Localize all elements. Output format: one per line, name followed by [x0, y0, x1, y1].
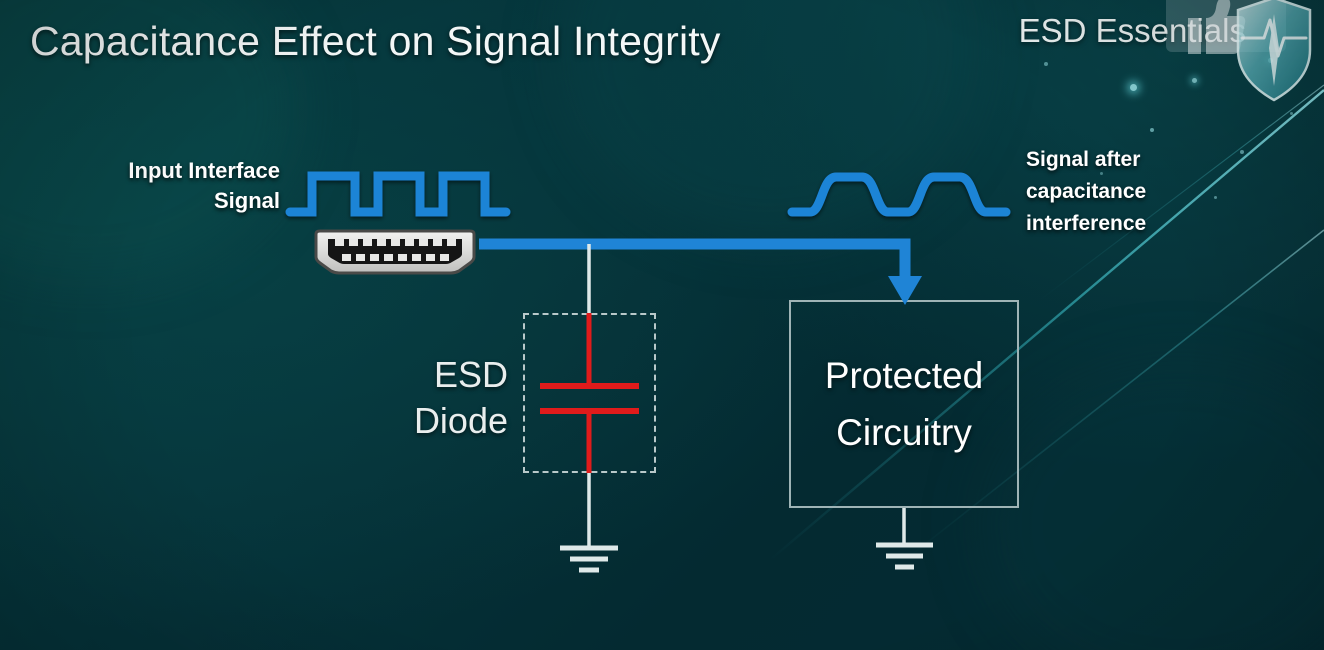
hdmi-connector-icon: [309, 229, 481, 275]
output-rounded-waveform: [792, 177, 1006, 212]
slide-canvas: Capacitance Effect on Signal Integrity E…: [0, 0, 1324, 650]
input-square-waveform: [290, 176, 506, 212]
capacitor-icon: [540, 386, 639, 411]
ground-symbol-left: [560, 548, 618, 570]
ground-symbol-right: [876, 545, 933, 567]
arrow-down-icon: [888, 276, 922, 305]
signal-trace-blue: [479, 244, 922, 305]
circuit-diagram: [0, 0, 1324, 650]
